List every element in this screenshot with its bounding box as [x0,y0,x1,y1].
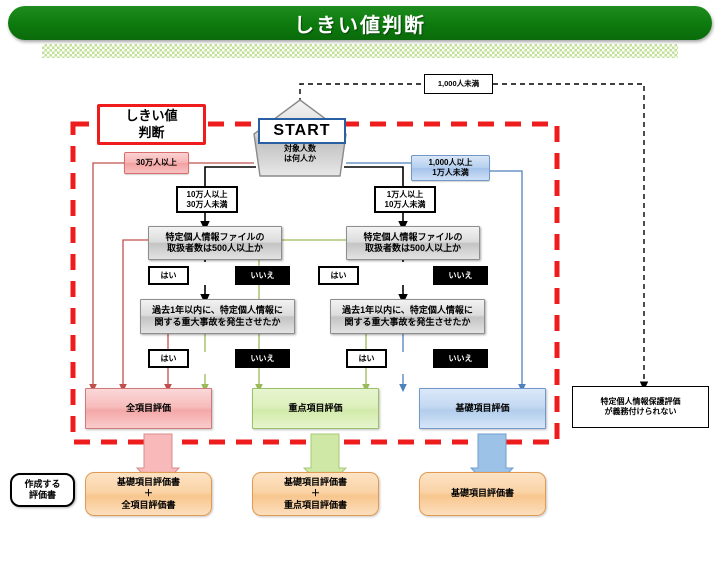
result-key-items: 重点項目評価 [252,388,379,429]
result-basic-items: 基礎項目評価 [419,388,546,429]
answer-yes-incident-left-text: はい [161,354,177,364]
decision-handlers-right: 特定個人情報ファイルの 取扱者数は500人以上か [346,226,480,260]
answer-no-incident-right-text: いいえ [449,354,473,364]
result-exempt-line1: 特定個人情報保護評価 [601,397,681,407]
result-exempt-line2: が義務付けられない [605,407,677,417]
branch-10k-to-100k: 1万人以上 10万人未満 [374,186,436,213]
decision-incident-left-line1: 過去1年以内に、特定個人情報に [152,305,283,316]
answer-yes-handlers-left: はい [148,266,189,285]
document-key-items-line1: 基礎項目評価書 [284,477,347,488]
flowchart-canvas: しきい値判断 [0,0,720,562]
answer-no-handlers-right-text: いいえ [449,271,473,281]
answer-yes-handlers-right-chip: はい [318,266,359,285]
start-question: 対象人数 は何人か [258,142,342,166]
threshold-label-line1: しきい値 [125,108,177,124]
start-question-line1: 対象人数 [284,144,316,154]
documents-tag: 作成する 評価書 [10,473,75,507]
result-all-items-text: 全項目評価 [126,403,171,414]
page-title: しきい値判断 [294,9,426,38]
document-key-items-line3: 重点項目評価書 [284,500,347,511]
documents-tag-line2: 評価書 [29,490,56,501]
start-text: START [273,122,330,140]
document-all-items-line2: ＋ [144,488,153,499]
branch-1000-to-10k-line1: 1,000人以上 [428,158,472,168]
decision-handlers-right-line1: 特定個人情報ファイルの [363,232,462,243]
branch-under-1000: 1,000人未満 [424,74,493,94]
answer-yes-handlers-left-text: はい [161,271,177,281]
answer-yes-incident-left: はい [148,349,189,368]
branch-100k-to-300k-line1: 10万人以上 [187,190,228,200]
decision-handlers-right-line2: 取扱者数は500人以上か [365,243,461,254]
branch-over-300k-text: 30万人以上 [136,158,177,168]
answer-no-incident-right: いいえ [433,349,488,368]
branch-10k-to-100k-line1: 1万人以上 [387,190,423,200]
branch-1000-to-10k: 1,000人以上 1万人未満 [411,155,490,181]
decision-incident-right-line2: 関する重大事故を発生させたか [344,317,470,328]
branch-over-300k: 30万人以上 [124,152,189,174]
result-exempt: 特定個人情報保護評価 が義務付けられない [572,386,709,428]
decision-incident-right-line1: 過去1年以内に、特定個人情報に [342,305,473,316]
page-title-bar: しきい値判断 [8,6,712,40]
document-key-items-line2: ＋ [311,488,320,499]
threshold-label-line2: 判断 [138,125,164,141]
answer-no-handlers-left-text: いいえ [251,271,275,281]
answer-no-handlers-right: いいえ [433,266,488,285]
document-basic-items: 基礎項目評価書 [419,472,546,516]
decorative-hatch-band [42,44,678,58]
document-all-items-line1: 基礎項目評価書 [117,477,180,488]
decision-handlers-left: 特定個人情報ファイルの 取扱者数は500人以上か [148,226,282,260]
branch-under-1000-text: 1,000人未満 [438,79,479,88]
start-node-label: START [258,118,346,144]
document-key-items: 基礎項目評価書 ＋ 重点項目評価書 [252,472,379,516]
decision-handlers-left-line1: 特定個人情報ファイルの [165,232,264,243]
document-all-items: 基礎項目評価書 ＋ 全項目評価書 [85,472,212,516]
answer-no-incident-left-text: いいえ [251,354,275,364]
start-question-line2: は何人か [284,154,316,164]
result-key-items-text: 重点項目評価 [288,403,342,414]
document-all-items-line3: 全項目評価書 [121,500,175,511]
answer-no-incident-left: いいえ [235,349,290,368]
threshold-zone-label: しきい値 判断 [97,104,206,145]
documents-tag-line1: 作成する [24,479,60,490]
decision-handlers-left-line2: 取扱者数は500人以上か [167,243,263,254]
answer-yes-incident-right-text: はい [359,354,375,364]
result-all-items: 全項目評価 [85,388,212,429]
decision-incident-left: 過去1年以内に、特定個人情報に 関する重大事故を発生させたか [140,299,295,334]
answer-yes-handlers-right-text: はい [331,271,347,281]
result-basic-items-text: 基礎項目評価 [455,403,509,414]
answer-yes-incident-right: はい [346,349,387,368]
branch-100k-to-300k: 10万人以上 30万人未満 [176,186,238,213]
answer-no-handlers-left: いいえ [235,266,290,285]
branch-10k-to-100k-line2: 10万人未満 [385,200,426,210]
decision-incident-right: 過去1年以内に、特定個人情報に 関する重大事故を発生させたか [330,299,485,334]
branch-1000-to-10k-line2: 1万人未満 [432,168,468,178]
decision-incident-left-line2: 関する重大事故を発生させたか [154,317,280,328]
branch-100k-to-300k-line2: 30万人未満 [187,200,228,210]
document-basic-items-line1: 基礎項目評価書 [451,488,514,499]
